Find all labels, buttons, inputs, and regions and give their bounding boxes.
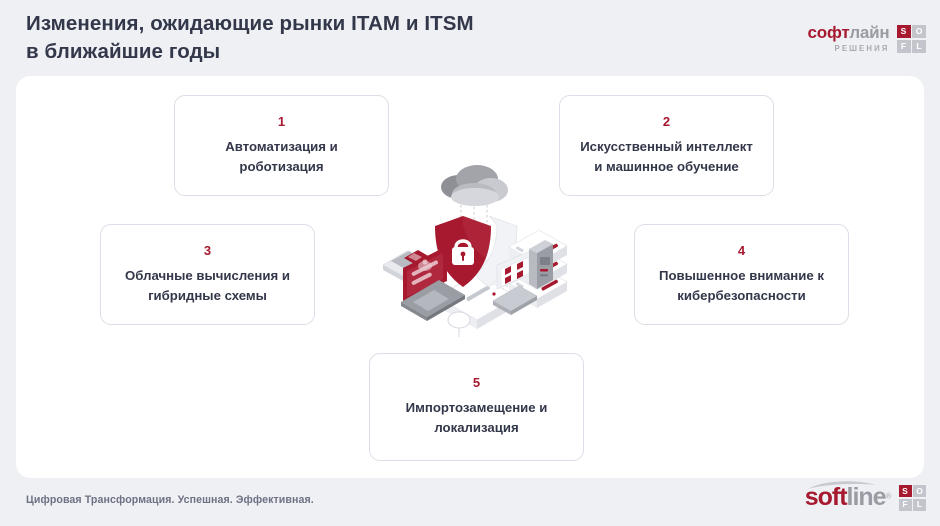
trend-card-1-number: 1: [278, 115, 285, 128]
sofl-cell-s: S: [897, 25, 911, 38]
trend-card-4[interactable]: 4 Повышенное внимание к кибербезопасност…: [634, 224, 849, 325]
trend-card-5-label: Импортозамещение и локализация: [406, 398, 548, 438]
header-logo-text: софтлайн: [808, 24, 890, 41]
trend-card-4-number: 4: [738, 244, 745, 257]
header-logo-subtitle: РЕШЕНИЯ: [835, 45, 890, 53]
trend-card-5[interactable]: 5 Импортозамещение и локализация: [369, 353, 584, 461]
header-logo-word-second: лайн: [849, 23, 889, 42]
footer-logo-registered: ®: [886, 491, 892, 500]
slide-footer: Цифровая Трансформация. Успешная. Эффект…: [0, 478, 940, 526]
trend-card-3[interactable]: 3 Облачные вычисления и гибридные схемы: [100, 224, 315, 325]
footer-sofl-cell-s: S: [899, 485, 912, 497]
trend-card-2-number: 2: [663, 115, 670, 128]
footer-logo-word-first: soft: [805, 483, 847, 511]
footer-sofl-cell-f: F: [899, 499, 912, 511]
trend-card-3-number: 3: [204, 244, 211, 257]
footer-sofl-cell-l: L: [913, 499, 926, 511]
footer-brand-logo: softline® S O F L: [805, 484, 926, 511]
footer-logo-word-second: line: [847, 483, 886, 511]
footer-tagline: Цифровая Трансформация. Успешная. Эффект…: [26, 494, 314, 506]
sofl-cell-l: L: [912, 40, 926, 53]
header-logo-wordmark: софтлайн РЕШЕНИЯ: [808, 24, 890, 53]
footer-logo-wordmark: softline®: [805, 485, 892, 510]
sofl-cell-o: O: [912, 25, 926, 38]
content-panel: 1 Автоматизация и роботизация 2 Искусств…: [16, 76, 924, 478]
trend-card-4-label: Повышенное внимание к кибербезопасности: [659, 266, 824, 306]
footer-sofl-mark-icon: S O F L: [899, 485, 927, 511]
trend-card-1-label: Автоматизация и роботизация: [225, 137, 338, 177]
header-brand-logo: софтлайн РЕШЕНИЯ S O F L: [808, 24, 926, 53]
sofl-mark-icon: S O F L: [897, 25, 927, 53]
header-logo-word-first: софт: [808, 23, 850, 42]
trend-card-5-number: 5: [473, 376, 480, 389]
slide-header: Изменения, ожидающие рынки ITAM и ITSM в…: [0, 0, 940, 78]
footer-sofl-cell-o: O: [913, 485, 926, 497]
cloud-icon: [441, 165, 508, 206]
trend-card-2-label: Искусственный интеллект и машинное обуче…: [580, 137, 753, 177]
trend-card-2[interactable]: 2 Искусственный интеллект и машинное обу…: [559, 95, 774, 196]
central-illustration: [371, 161, 586, 351]
mouse-icon: [448, 312, 470, 337]
trend-card-1[interactable]: 1 Автоматизация и роботизация: [174, 95, 389, 196]
trend-card-3-label: Облачные вычисления и гибридные схемы: [125, 266, 290, 306]
sofl-cell-f: F: [897, 40, 911, 53]
page-title: Изменения, ожидающие рынки ITAM и ITSM в…: [26, 10, 626, 66]
